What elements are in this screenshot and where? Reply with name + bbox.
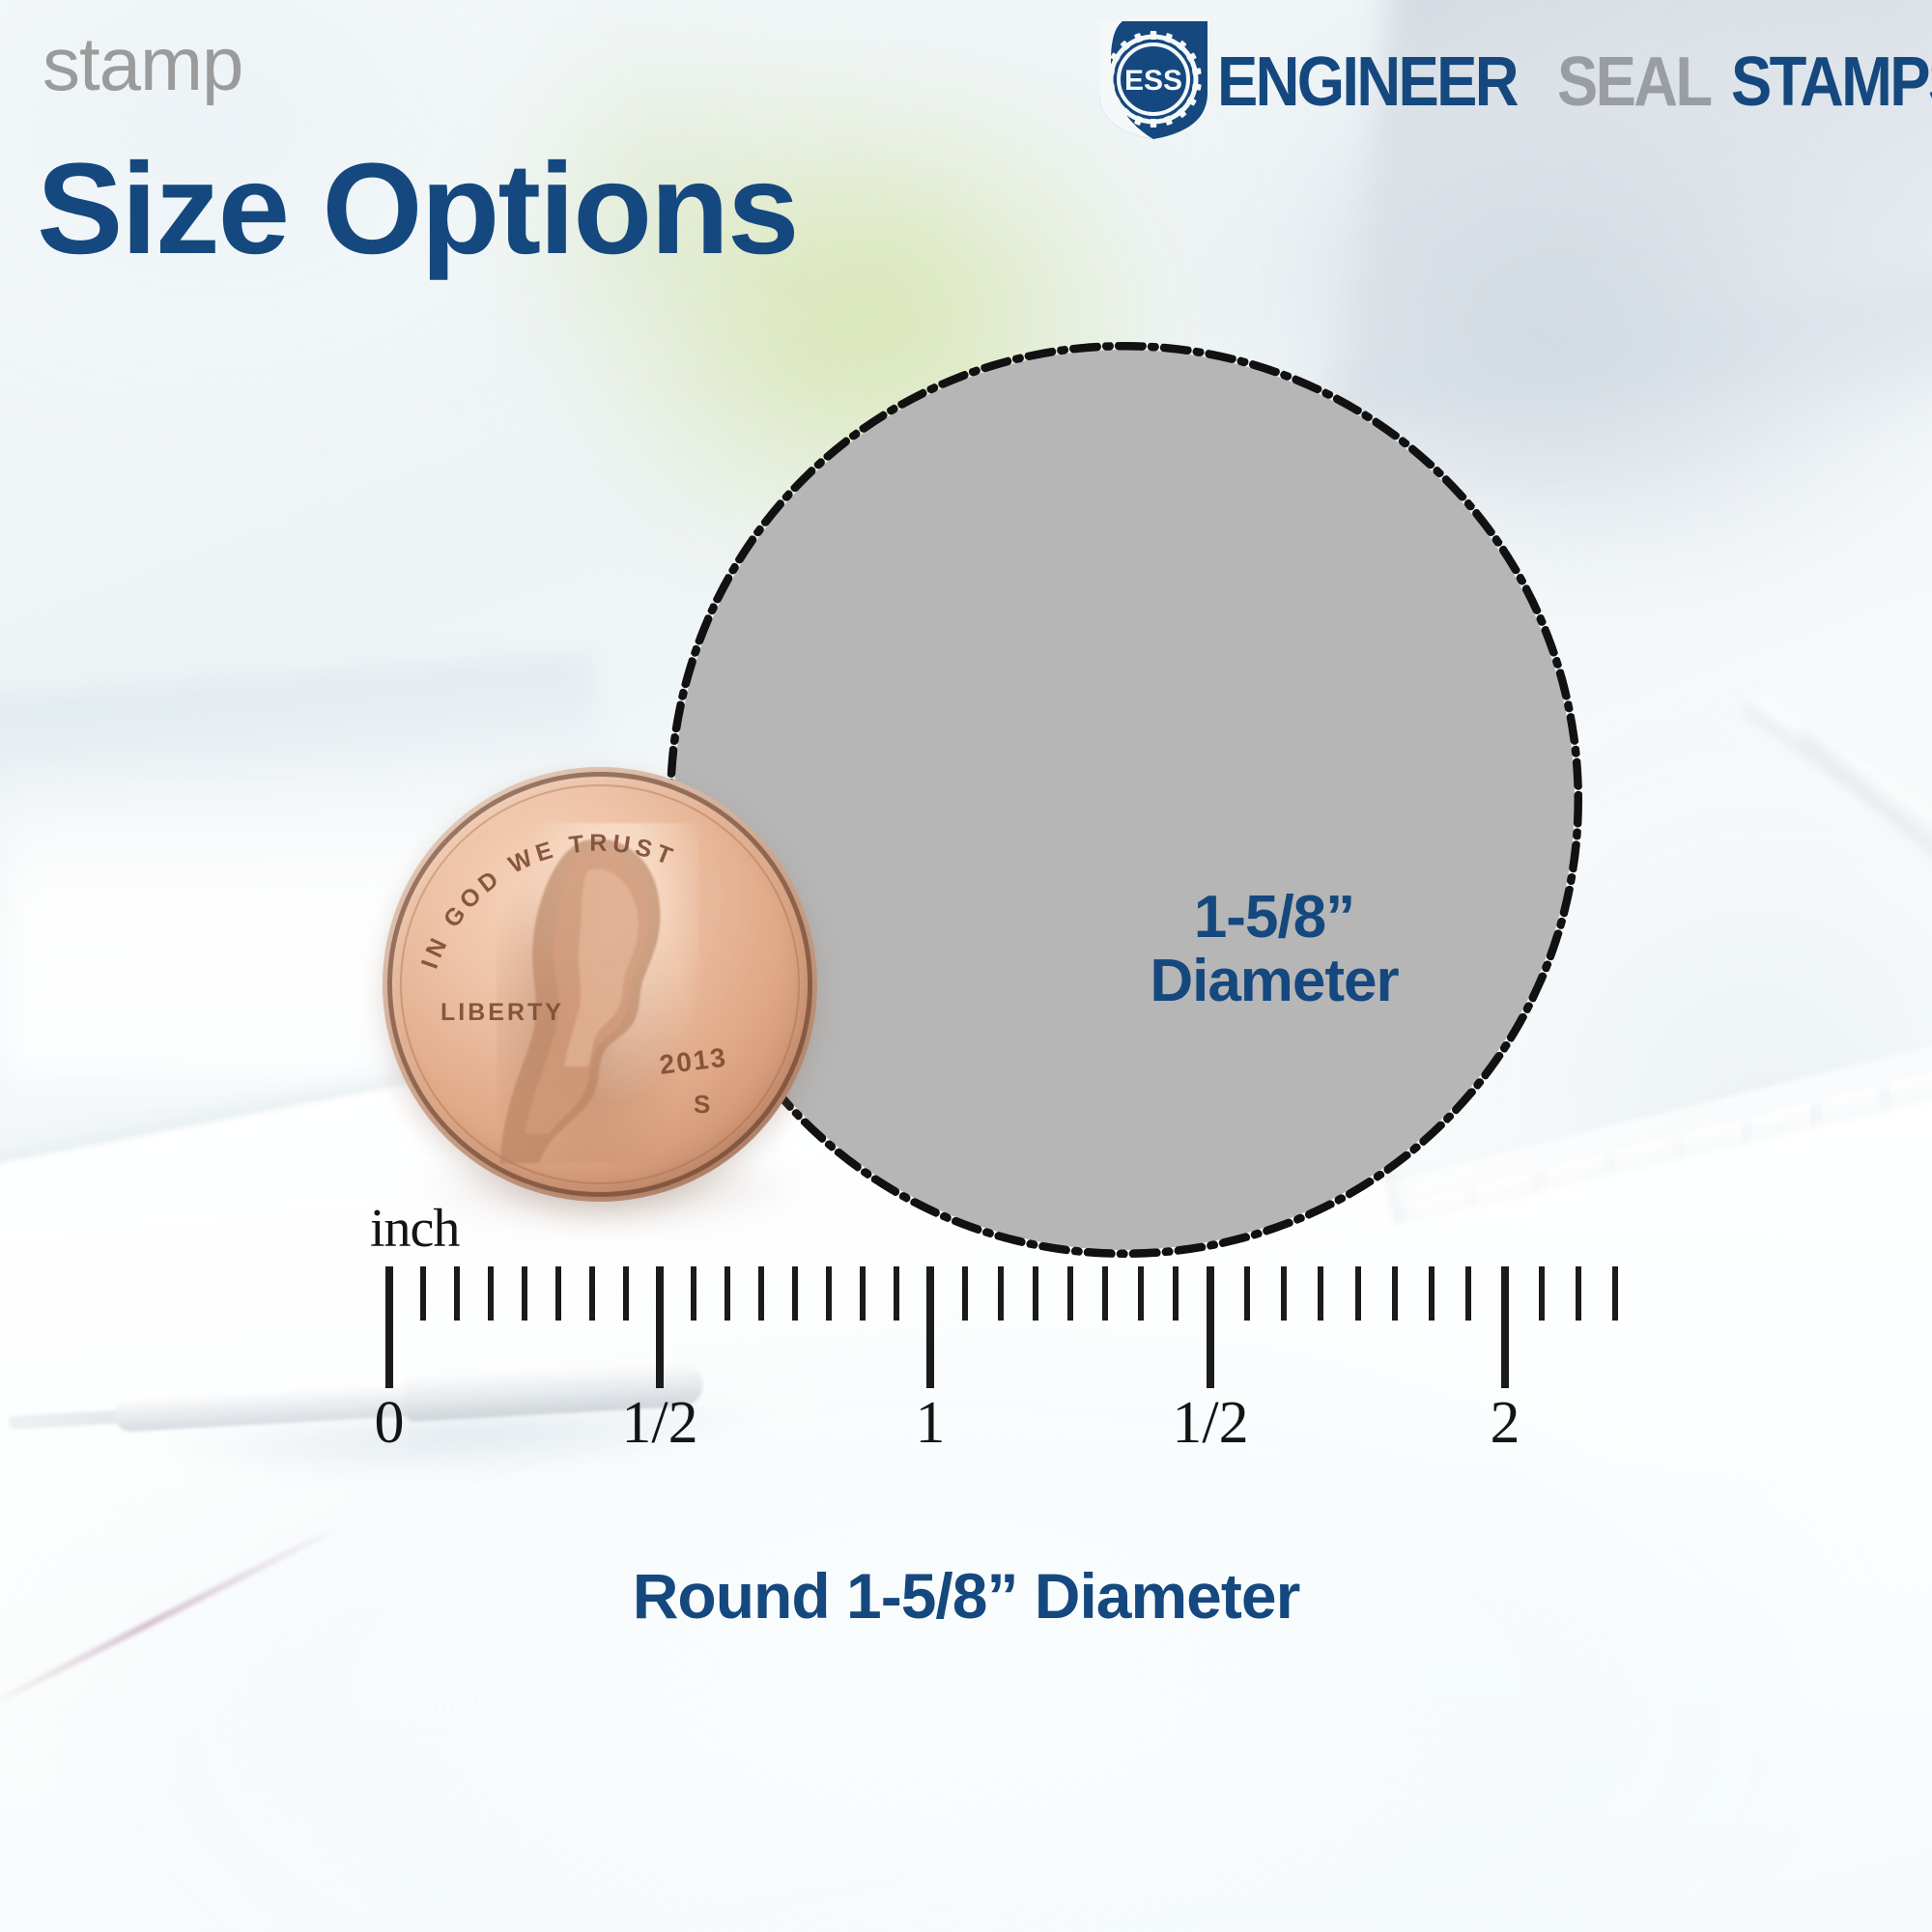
svg-text:IN GOD WE TRUST: IN GOD WE TRUST [416, 830, 680, 973]
logo-word-seal: SEAL [1557, 53, 1710, 111]
page-title: Size Options [37, 145, 798, 274]
size-options-infographic: stamp Size Options [0, 0, 1932, 1932]
penny-legends: IN GOD WE TRUST LIBERTY 2013 S [383, 767, 817, 1202]
penny-mintmark-text: S [694, 1090, 710, 1119]
sample-size-line2: Diameter [1150, 950, 1398, 1013]
size-caption: Round 1-5/8” Diameter [0, 1559, 1932, 1633]
brand-logo[interactable]: ESS ENGINEER SEAL STAMPS . C O M [1094, 17, 1932, 141]
ess-shield-icon: ESS [1094, 17, 1213, 141]
page-eyebrow: stamp [43, 26, 242, 101]
logo-word-engineer: ENGINEER [1217, 53, 1517, 111]
penny-motto-text: IN GOD WE TRUST [416, 830, 680, 973]
us-penny-reference: IN GOD WE TRUST LIBERTY 2013 S [383, 767, 817, 1202]
ess-monogram: ESS [1124, 65, 1182, 97]
penny-year-text: 2013 [658, 1042, 729, 1080]
logo-word-stamps: STAMPS [1731, 53, 1932, 111]
sample-size-label: 1-5/8” Diameter [1150, 886, 1398, 1012]
sample-size-line1: 1-5/8” [1150, 886, 1398, 950]
logo-wordmark: ENGINEER SEAL STAMPS . C O M [1217, 47, 1932, 112]
penny-liberty-text: LIBERTY [440, 999, 564, 1026]
